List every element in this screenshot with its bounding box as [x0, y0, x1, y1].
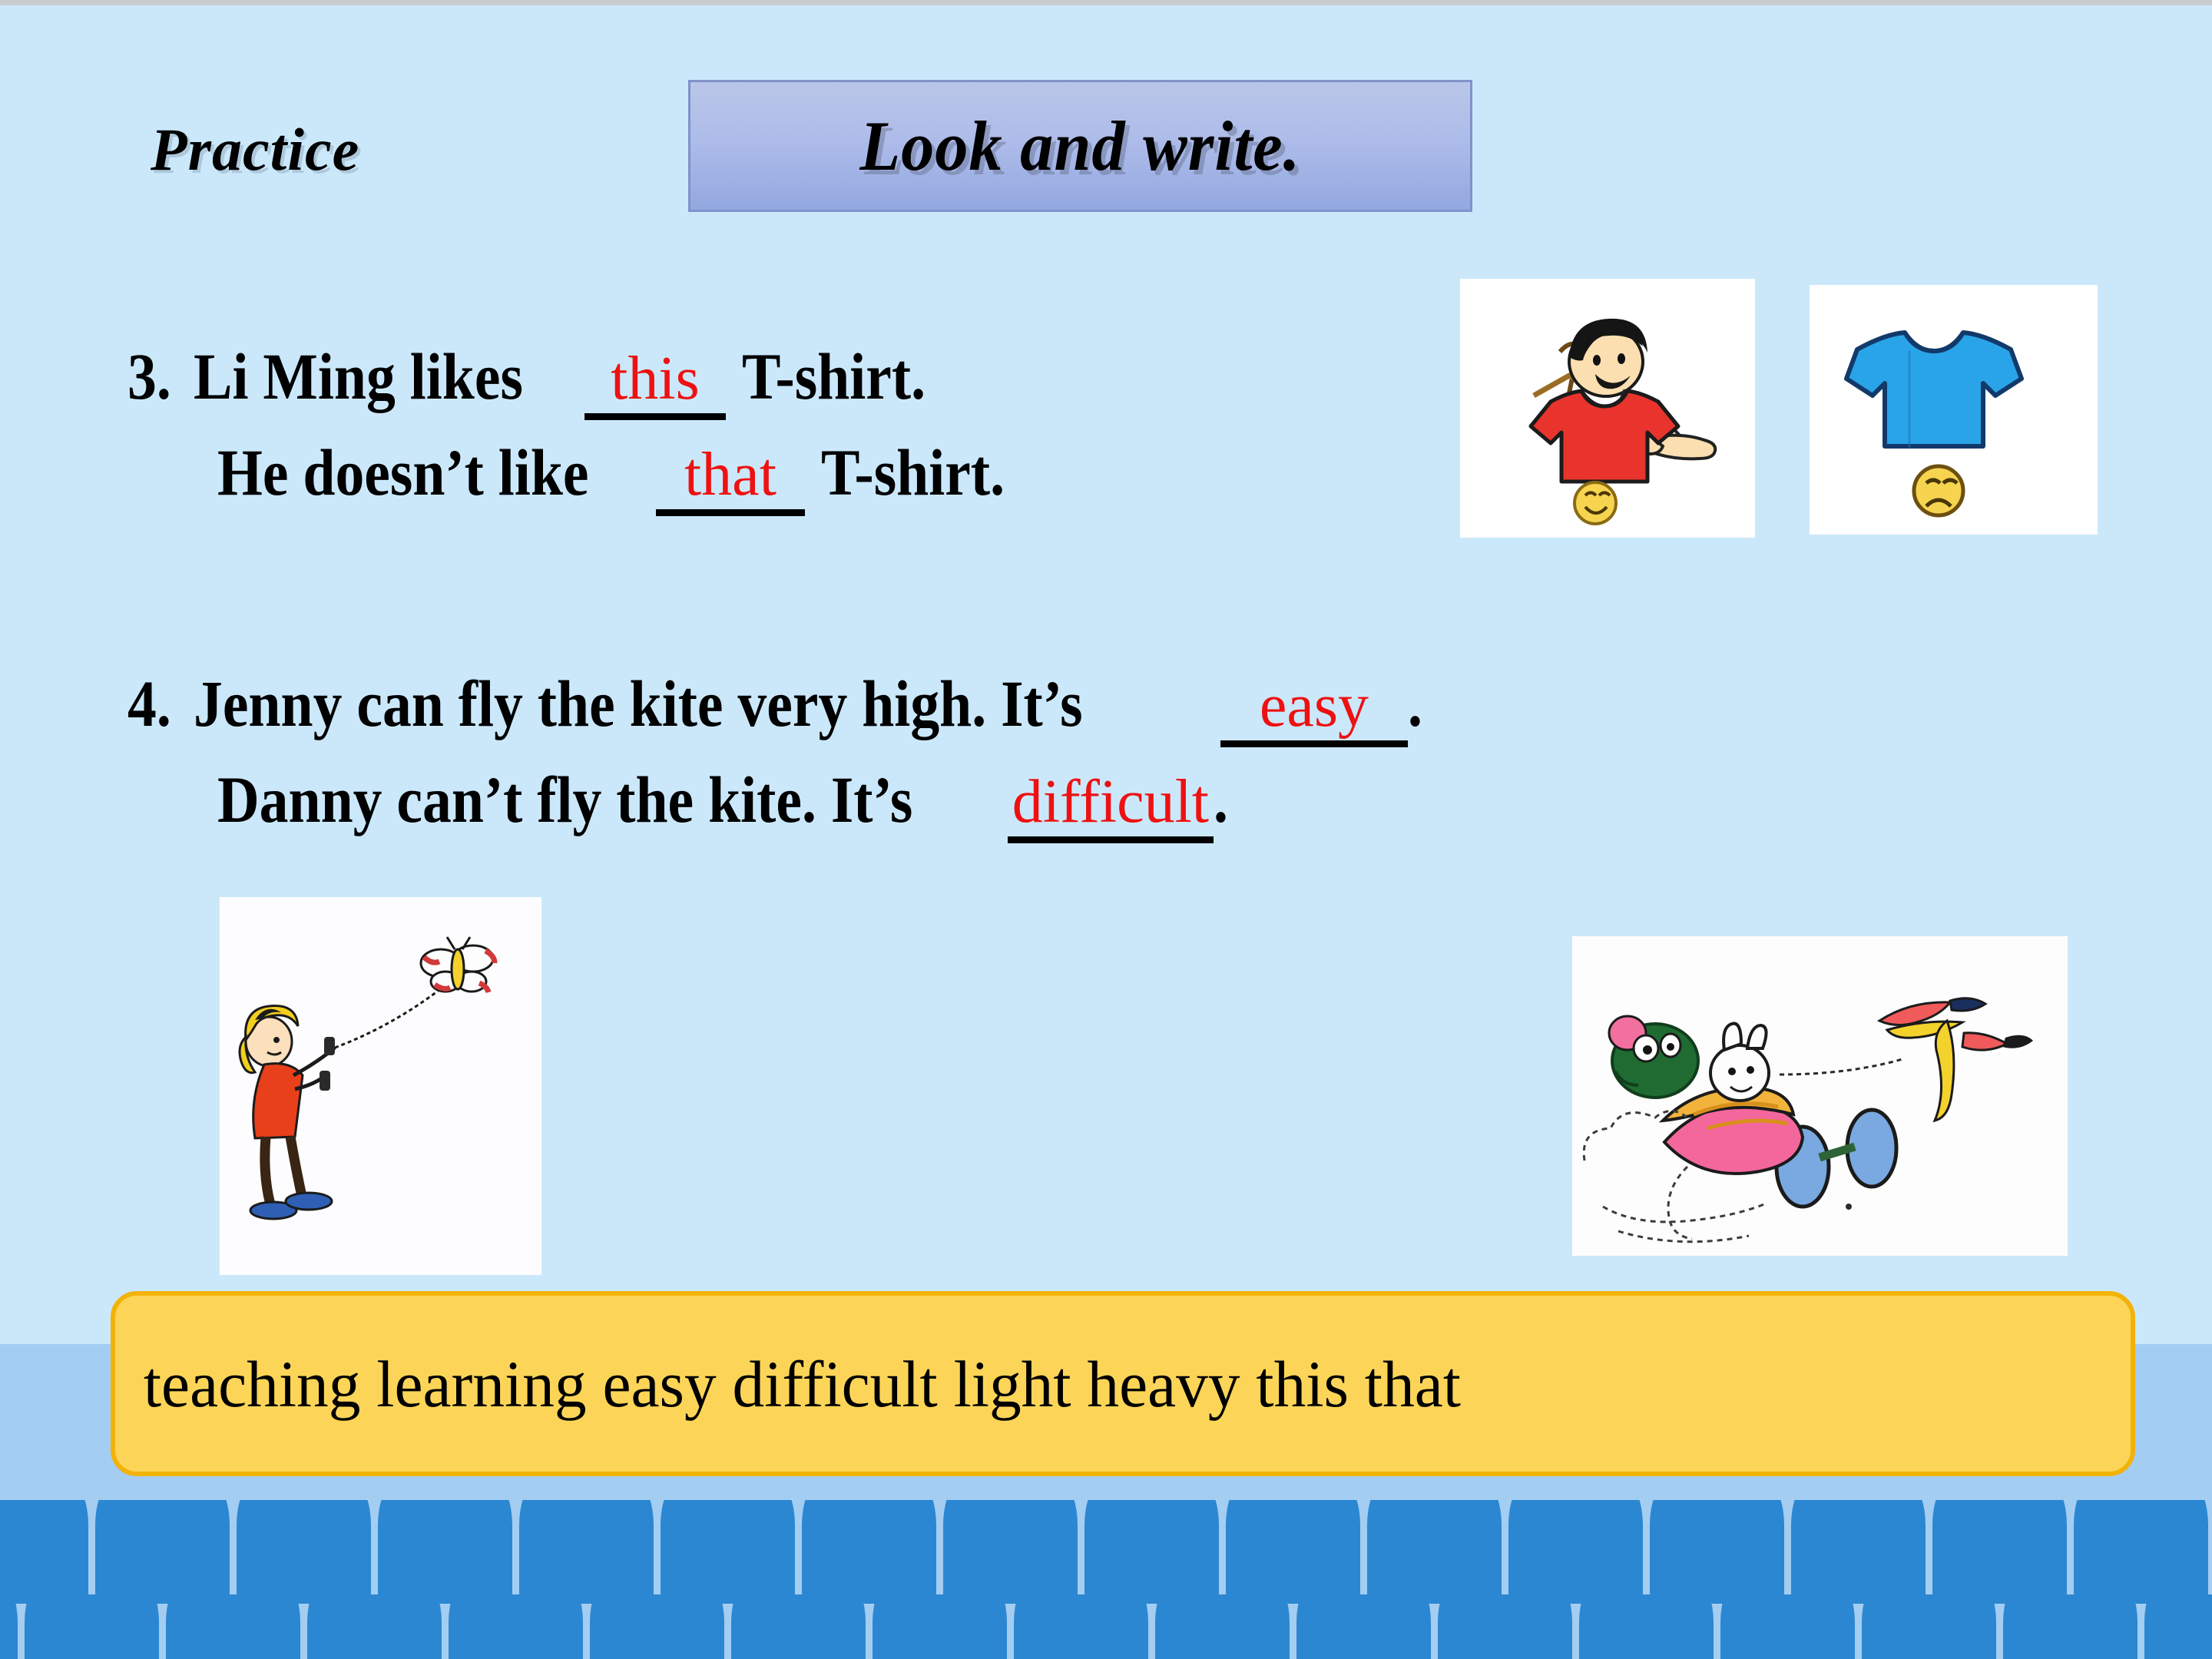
- scallop-arch: [0, 1500, 88, 1604]
- scallop-arch: [1226, 1500, 1360, 1604]
- image-boy-flying-butterfly-kite: [220, 897, 541, 1275]
- exercise-4-line2-before: Danny can’t fly the kite. It’s: [217, 767, 912, 833]
- scallop-arch: [2074, 1500, 2208, 1604]
- scallop-arch: [2144, 1594, 2212, 1659]
- word-bank-text: teaching learning easy difficult light h…: [115, 1346, 1461, 1422]
- title-banner: Look and write.: [688, 80, 1472, 212]
- exercise-4-line-2: Danny can’t fly the kite. It’sdifficult.: [217, 767, 1230, 843]
- top-edge-strip: [0, 0, 2212, 5]
- exercise-4-line1-before: Jenny can fly the kite very high. It’s: [194, 671, 1083, 737]
- scallop-row-back: [0, 1500, 2212, 1604]
- scallop-arch: [1508, 1500, 1643, 1604]
- scallop-arch: [166, 1594, 300, 1659]
- exercise-4-blank-2[interactable]: difficult: [1008, 773, 1214, 843]
- exercise-3-line2-before: He doesn’t like: [217, 439, 589, 505]
- image-blue-tshirt: [1810, 285, 2098, 535]
- scallop-arch: [0, 1594, 18, 1659]
- exercise-3-number: 3.: [127, 343, 171, 409]
- scallop-arch: [307, 1594, 442, 1659]
- title-text: Look and write.: [860, 105, 1301, 187]
- scallop-row-front: [0, 1594, 2212, 1659]
- scallop-arch: [943, 1500, 1078, 1604]
- section-label-practice: Practice: [151, 115, 359, 184]
- exercise-4-blank-1[interactable]: easy: [1220, 677, 1408, 747]
- scallop-arch: [1862, 1594, 1996, 1659]
- scallop-arch: [1084, 1500, 1219, 1604]
- scallop-arch: [1579, 1594, 1714, 1659]
- exercise-4-line-1: 4. Jenny can fly the kite very high. It’…: [127, 671, 1424, 747]
- exercise-3-line-1: 3. Li Ming likes this T-shirt.: [127, 343, 951, 420]
- word-bank-box[interactable]: teaching learning easy difficult light h…: [111, 1291, 2135, 1476]
- scallop-arch: [590, 1594, 724, 1659]
- scallop-arch: [1155, 1594, 1290, 1659]
- scallop-arch: [1791, 1500, 1926, 1604]
- scallop-arch: [1296, 1594, 1431, 1659]
- scallop-arch: [25, 1594, 159, 1659]
- scallop-arch: [378, 1500, 512, 1604]
- scallop-arch: [731, 1594, 866, 1659]
- scallop-arch: [449, 1594, 583, 1659]
- exercise-3-line1-before: Li Ming likes: [194, 343, 523, 409]
- scallop-arch: [1438, 1594, 1572, 1659]
- exercise-3-blank-1[interactable]: this: [584, 349, 726, 420]
- image-animals-with-bird-kite: [1572, 936, 2068, 1256]
- exercise-4-number: 4.: [127, 671, 171, 737]
- scallop-arch: [661, 1500, 795, 1604]
- scallop-arch: [2003, 1594, 2137, 1659]
- exercise-3-line-2: He doesn’t like that T-shirt.: [217, 439, 1030, 516]
- scallop-arch: [237, 1500, 371, 1604]
- exercise-3-line1-after: T-shirt.: [742, 343, 926, 409]
- scallop-arch: [1014, 1594, 1148, 1659]
- exercise-3-line2-after: T-shirt.: [821, 439, 1005, 505]
- scallop-arch: [1650, 1500, 1784, 1604]
- exercise-3-blank-2[interactable]: that: [656, 445, 805, 516]
- scallop-arch: [1720, 1594, 1855, 1659]
- scallop-arch: [1932, 1500, 2067, 1604]
- scallop-arch: [95, 1500, 230, 1604]
- scallop-arch: [802, 1500, 936, 1604]
- exercise-4-line1-after: .: [1408, 671, 1422, 737]
- exercise-4-line2-after: .: [1214, 767, 1228, 833]
- scallop-arch: [1367, 1500, 1502, 1604]
- image-boy-holding-red-tshirt: [1460, 279, 1755, 538]
- scallop-arch: [519, 1500, 654, 1604]
- scallop-arch: [873, 1594, 1007, 1659]
- slide-canvas: Practice Look and write. 3. Li Ming like…: [0, 0, 2212, 1659]
